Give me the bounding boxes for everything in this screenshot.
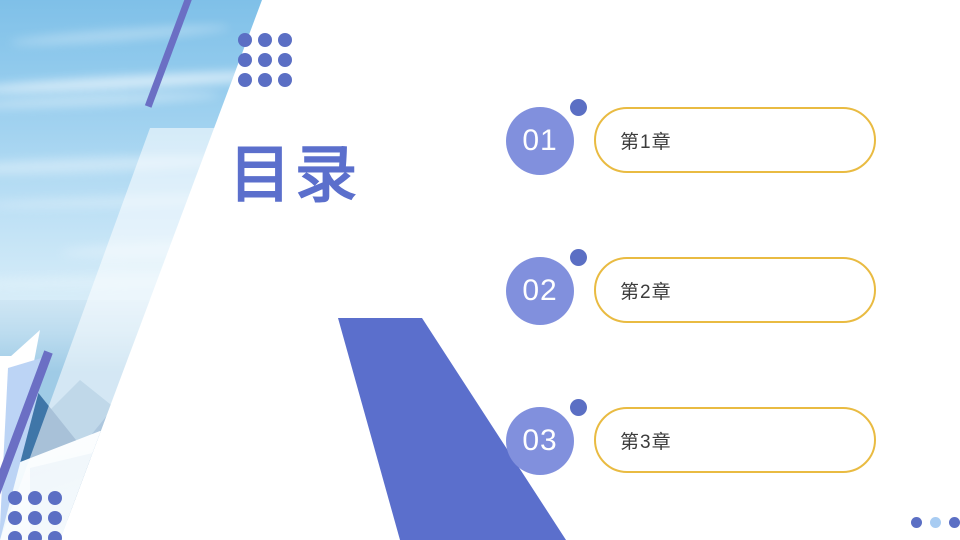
dot xyxy=(278,73,292,87)
chapter-item-02[interactable]: 02 第2章 xyxy=(506,245,926,335)
dot xyxy=(48,531,62,540)
dot xyxy=(930,517,941,528)
dot xyxy=(238,33,252,47)
accent-dot-icon xyxy=(570,399,587,416)
dot xyxy=(949,517,960,528)
dot-grid-icon xyxy=(238,33,292,87)
dot xyxy=(911,517,922,528)
chapter-number-badge: 03 xyxy=(506,407,574,475)
dot xyxy=(8,511,22,525)
dot xyxy=(28,531,42,540)
chapter-item-03[interactable]: 03 第3章 xyxy=(506,395,926,485)
cloud-streak xyxy=(0,90,220,110)
cloud-streak xyxy=(0,273,270,291)
chapter-pill[interactable]: 第3章 xyxy=(594,407,876,473)
cloud-streak xyxy=(10,22,230,47)
chapter-label: 第3章 xyxy=(620,427,672,454)
dot xyxy=(258,73,272,87)
chapter-list: 01 第1章 02 第2章 03 第3章 xyxy=(506,95,926,485)
cloud-streak xyxy=(0,153,240,177)
chapter-pill[interactable]: 第2章 xyxy=(594,257,876,323)
dot xyxy=(278,53,292,67)
chapter-label: 第2章 xyxy=(620,277,672,304)
chapter-number-badge: 02 xyxy=(506,257,574,325)
dot xyxy=(258,33,272,47)
chapter-number-badge: 01 xyxy=(506,107,574,175)
dot xyxy=(258,53,272,67)
snow-cap xyxy=(120,346,216,390)
accent-dot-icon xyxy=(570,99,587,116)
dot xyxy=(48,491,62,505)
snow-cap xyxy=(230,352,308,388)
chapter-pill[interactable]: 第1章 xyxy=(594,107,876,173)
dot xyxy=(238,73,252,87)
dot xyxy=(278,33,292,47)
dot xyxy=(8,531,22,540)
dot xyxy=(8,491,22,505)
cloud-streak xyxy=(60,235,340,261)
dot xyxy=(28,491,42,505)
three-dots-icon xyxy=(911,517,960,528)
mountain-peak xyxy=(150,352,450,502)
chapter-label: 第1章 xyxy=(620,127,672,154)
chapter-item-01[interactable]: 01 第1章 xyxy=(506,95,926,185)
slide-canvas: 目录 01 第1章 02 第2章 03 第3章 xyxy=(0,0,960,540)
dot xyxy=(28,511,42,525)
dot-grid-icon xyxy=(8,491,62,540)
accent-dot-icon xyxy=(570,249,587,266)
page-title: 目录 xyxy=(229,145,361,207)
dot xyxy=(238,53,252,67)
dot xyxy=(48,511,62,525)
